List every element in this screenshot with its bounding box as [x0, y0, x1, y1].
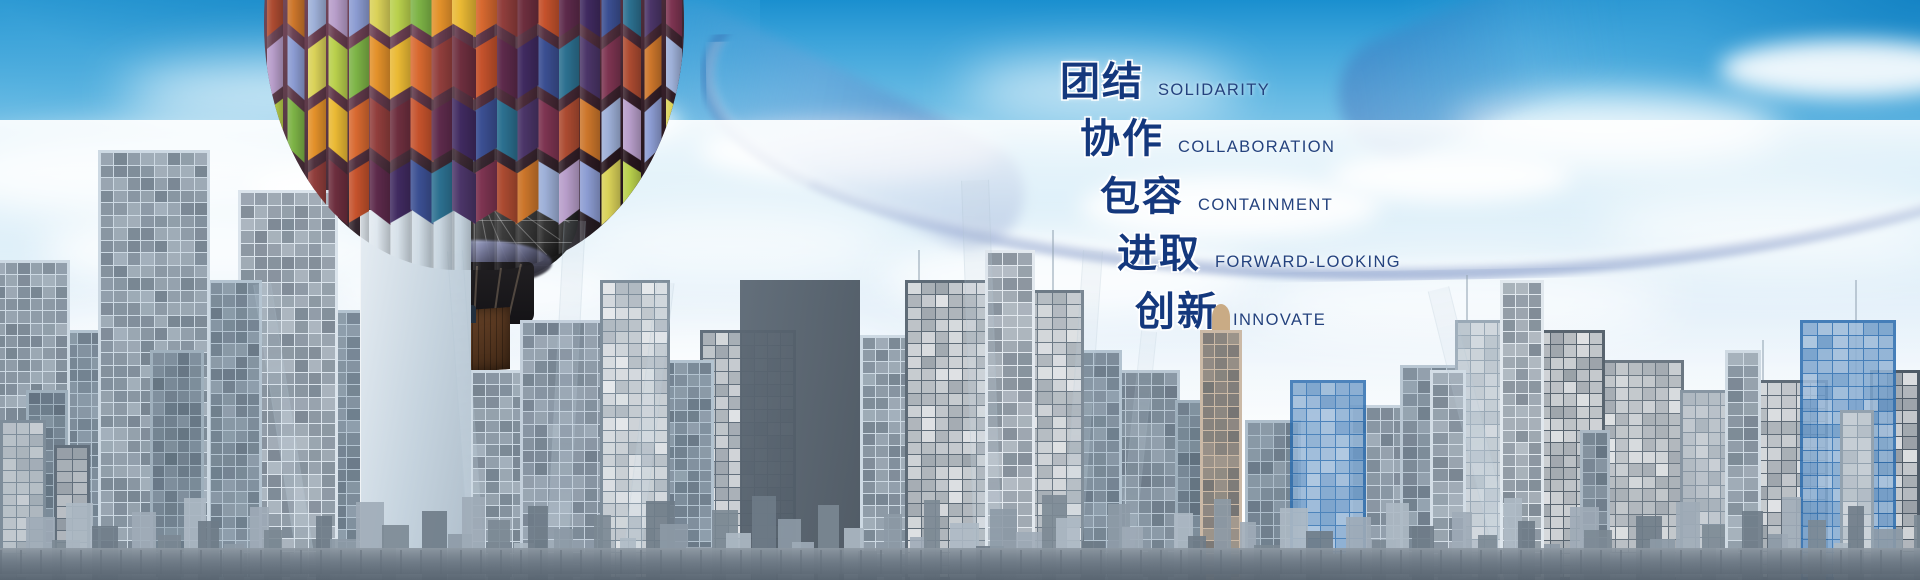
window	[1018, 253, 1032, 265]
window	[876, 446, 888, 457]
window	[1178, 428, 1189, 440]
window	[1744, 366, 1759, 378]
window	[347, 446, 360, 457]
window	[18, 263, 30, 274]
window	[268, 514, 281, 526]
window	[168, 216, 180, 228]
window	[675, 363, 686, 374]
window	[1003, 303, 1017, 315]
window	[1709, 393, 1721, 405]
window	[309, 360, 322, 372]
window	[1261, 436, 1273, 448]
window	[1152, 386, 1164, 398]
window	[114, 291, 126, 303]
window	[863, 470, 875, 481]
window	[1879, 336, 1893, 348]
window	[1643, 401, 1655, 413]
window	[1228, 419, 1239, 430]
window	[1018, 328, 1032, 340]
window	[922, 283, 935, 294]
window	[1485, 336, 1497, 348]
window	[486, 397, 498, 408]
window	[1782, 422, 1796, 434]
window	[1228, 394, 1239, 405]
window	[1018, 341, 1032, 353]
window	[603, 492, 615, 503]
balloon-chevron	[369, 36, 390, 101]
window	[101, 391, 113, 403]
balloon-gore	[601, 0, 620, 270]
window	[1643, 439, 1655, 451]
window	[949, 504, 962, 515]
window	[1529, 344, 1541, 355]
window	[1003, 328, 1017, 340]
window	[248, 344, 259, 355]
window	[1053, 479, 1067, 490]
window	[1485, 361, 1497, 373]
window	[1516, 443, 1528, 454]
window	[688, 363, 699, 374]
window	[922, 344, 935, 355]
window	[1583, 459, 1595, 471]
window	[241, 231, 254, 243]
window	[114, 353, 126, 365]
window	[1203, 431, 1214, 442]
window	[178, 441, 189, 453]
window	[1843, 451, 1857, 463]
window	[908, 431, 921, 442]
window	[268, 501, 281, 513]
window	[1849, 387, 1863, 399]
window	[282, 334, 295, 346]
window	[114, 328, 126, 340]
window	[1768, 474, 1782, 486]
balloon-chevron	[537, 36, 559, 101]
window	[1818, 425, 1832, 437]
window	[1616, 376, 1628, 388]
window	[700, 459, 711, 470]
window	[1529, 283, 1541, 294]
window	[114, 403, 126, 415]
window	[141, 253, 153, 265]
window	[309, 373, 322, 385]
window	[716, 436, 728, 448]
window	[1529, 504, 1541, 515]
window	[114, 341, 126, 353]
window	[128, 366, 140, 378]
window	[1516, 418, 1528, 429]
window	[616, 308, 628, 319]
window	[486, 409, 498, 420]
window	[168, 203, 180, 215]
window	[101, 303, 113, 315]
window	[1818, 374, 1832, 386]
window	[153, 366, 164, 378]
window	[603, 431, 615, 442]
window	[54, 393, 65, 404]
window	[1190, 478, 1201, 490]
window	[700, 471, 711, 482]
window	[153, 466, 164, 478]
window	[1418, 499, 1432, 511]
window	[30, 459, 43, 470]
window	[295, 411, 308, 423]
window	[603, 406, 615, 417]
window	[17, 447, 30, 458]
window	[889, 494, 901, 505]
window	[6, 299, 18, 310]
window	[700, 494, 711, 505]
window	[1590, 345, 1602, 356]
window	[18, 287, 30, 298]
window	[141, 266, 153, 278]
window	[473, 385, 485, 396]
balloon-chevron	[410, 36, 433, 101]
window	[1879, 502, 1893, 514]
window	[1094, 378, 1106, 390]
window	[223, 480, 234, 491]
balloon-gore	[266, 0, 282, 270]
window	[1433, 530, 1448, 541]
window	[236, 418, 247, 429]
window	[616, 443, 628, 454]
window	[248, 431, 259, 442]
window	[1274, 423, 1286, 435]
window	[322, 308, 335, 320]
window	[114, 166, 126, 178]
window	[863, 410, 875, 421]
window	[688, 423, 699, 434]
window	[31, 348, 43, 359]
window	[1248, 488, 1260, 500]
window	[1038, 405, 1052, 416]
window	[1879, 438, 1893, 450]
window	[54, 405, 65, 416]
window	[236, 320, 247, 331]
window	[101, 166, 113, 178]
window	[128, 303, 140, 315]
window	[603, 480, 615, 491]
window	[876, 398, 888, 409]
window	[908, 308, 921, 319]
window	[190, 478, 201, 490]
window	[223, 529, 234, 540]
window	[908, 443, 921, 454]
window	[1696, 406, 1708, 418]
window	[1564, 333, 1576, 344]
window	[1433, 397, 1448, 408]
balloon-chevron	[348, 35, 368, 100]
window	[1656, 464, 1668, 476]
window	[1596, 433, 1608, 445]
window	[1516, 283, 1528, 294]
window	[195, 253, 207, 265]
balloon-gore	[328, 0, 347, 270]
window	[78, 358, 90, 369]
window	[1293, 422, 1306, 434]
window	[523, 374, 534, 386]
window	[31, 372, 43, 383]
window	[1215, 382, 1226, 393]
window	[1709, 446, 1721, 458]
window	[1879, 489, 1893, 501]
window	[700, 530, 711, 541]
window	[486, 445, 498, 456]
balloon-gore	[558, 0, 579, 270]
window	[1261, 449, 1273, 461]
window	[211, 381, 222, 392]
balloon-gore	[452, 0, 476, 270]
window	[616, 492, 628, 503]
window	[1190, 403, 1201, 415]
window	[236, 332, 247, 343]
window	[922, 357, 935, 368]
window	[1003, 341, 1017, 353]
window	[1656, 363, 1668, 375]
window	[486, 506, 498, 517]
window	[128, 428, 140, 440]
window	[0, 396, 5, 407]
window	[1616, 515, 1628, 527]
window	[78, 345, 90, 356]
window	[0, 275, 5, 286]
window	[1782, 448, 1796, 460]
window	[195, 216, 207, 228]
window	[347, 433, 360, 444]
window	[675, 447, 686, 458]
window	[322, 283, 335, 295]
window	[1403, 434, 1417, 446]
window	[1471, 361, 1483, 373]
balloon-chevron	[266, 159, 282, 226]
window	[936, 357, 949, 368]
window	[153, 478, 164, 490]
window	[347, 361, 360, 372]
window	[211, 369, 222, 380]
window	[30, 506, 43, 517]
window	[18, 311, 30, 322]
window	[18, 336, 30, 347]
window	[165, 441, 176, 453]
window	[211, 344, 222, 355]
window	[78, 431, 90, 442]
window	[936, 406, 949, 417]
window	[500, 506, 512, 517]
window	[153, 353, 164, 365]
window	[1228, 480, 1239, 491]
window	[1228, 443, 1239, 454]
window	[18, 299, 30, 310]
window	[1053, 392, 1067, 403]
window	[949, 394, 962, 405]
window	[1596, 459, 1608, 471]
window	[655, 431, 667, 442]
balloon-chevron	[515, 98, 538, 163]
tower-cap	[1212, 304, 1230, 330]
window	[6, 311, 18, 322]
window	[523, 476, 534, 488]
window	[1336, 461, 1349, 473]
window	[1768, 513, 1782, 525]
balloon-chevron	[622, 159, 640, 226]
window	[1293, 409, 1306, 421]
window	[1656, 414, 1668, 426]
window	[1350, 409, 1363, 421]
window	[949, 295, 962, 306]
window	[1503, 369, 1515, 380]
window	[1293, 383, 1306, 395]
window	[57, 448, 72, 459]
window	[1629, 376, 1641, 388]
window	[1094, 403, 1106, 415]
window	[863, 446, 875, 457]
window	[190, 366, 201, 378]
slogan-en: COLLABORATION	[1178, 138, 1335, 157]
window	[1038, 380, 1052, 391]
window	[1203, 382, 1214, 393]
window	[347, 458, 360, 469]
window	[255, 257, 268, 269]
window	[1321, 500, 1334, 512]
window	[190, 378, 201, 390]
window	[3, 435, 16, 446]
window	[1833, 374, 1847, 386]
balloon-chevron	[494, 36, 517, 100]
window	[1018, 366, 1032, 378]
window	[168, 153, 180, 165]
window	[1744, 453, 1759, 465]
window	[1107, 366, 1119, 378]
window	[78, 419, 90, 430]
window	[1529, 418, 1541, 429]
window	[248, 443, 259, 454]
window	[114, 366, 126, 378]
window	[1248, 436, 1260, 448]
window	[1903, 463, 1917, 475]
balloon-chevron	[558, 0, 579, 38]
window	[486, 433, 498, 444]
balloon-chevron	[307, 0, 325, 38]
window	[190, 353, 201, 365]
window	[248, 418, 259, 429]
window	[1818, 412, 1832, 424]
window	[585, 502, 596, 514]
window	[282, 283, 295, 295]
balloon-chevron	[622, 97, 640, 163]
window	[0, 263, 5, 274]
window	[1833, 361, 1847, 373]
window	[309, 296, 322, 308]
window	[168, 166, 180, 178]
window	[248, 406, 259, 417]
balloon-chevron	[266, 0, 282, 38]
window	[1858, 451, 1872, 463]
window	[178, 366, 189, 378]
window	[248, 332, 259, 343]
window	[1516, 381, 1528, 392]
window	[876, 494, 888, 505]
balloon-chevron	[328, 159, 347, 226]
window	[1768, 383, 1782, 395]
window	[1293, 461, 1306, 473]
window	[500, 482, 512, 493]
window	[1367, 473, 1380, 485]
window	[1038, 392, 1052, 403]
window	[1350, 500, 1363, 512]
window	[195, 228, 207, 240]
window	[936, 480, 949, 491]
window	[1165, 373, 1177, 385]
window	[78, 333, 90, 344]
window	[1248, 501, 1260, 513]
window	[922, 381, 935, 392]
window	[585, 374, 596, 386]
window	[1903, 450, 1917, 462]
window	[1744, 478, 1759, 490]
balloon-chevron	[266, 97, 282, 163]
window	[616, 295, 628, 306]
window	[1696, 486, 1708, 498]
window	[603, 467, 615, 478]
window	[1516, 467, 1528, 478]
window	[1744, 491, 1759, 503]
window	[1367, 421, 1380, 433]
window	[322, 334, 335, 346]
window	[1293, 448, 1306, 460]
basket-weave	[502, 307, 503, 369]
window	[1418, 486, 1432, 498]
window	[603, 443, 615, 454]
window	[347, 482, 360, 493]
window	[1728, 478, 1743, 490]
window	[0, 372, 5, 383]
window	[1503, 308, 1515, 319]
window	[1336, 396, 1349, 408]
window	[616, 283, 628, 294]
window	[1818, 387, 1832, 399]
window	[1782, 435, 1796, 447]
window	[1551, 468, 1563, 479]
window	[1818, 489, 1832, 501]
window	[181, 303, 193, 315]
window	[1003, 416, 1017, 428]
window	[936, 283, 949, 294]
window	[486, 385, 498, 396]
window	[295, 296, 308, 308]
window	[128, 191, 140, 203]
window	[165, 478, 176, 490]
window	[1003, 428, 1017, 440]
window	[535, 323, 546, 335]
window	[1274, 436, 1286, 448]
window	[155, 153, 167, 165]
window	[165, 353, 176, 365]
window	[889, 446, 901, 457]
window	[1248, 462, 1260, 474]
window	[1336, 422, 1349, 434]
balloon-gore	[390, 0, 412, 270]
window	[1107, 391, 1119, 403]
window	[1803, 489, 1817, 501]
window	[1858, 438, 1872, 450]
window	[181, 191, 193, 203]
window	[295, 373, 308, 385]
window	[1728, 403, 1743, 415]
window	[1038, 479, 1052, 490]
window	[675, 387, 686, 398]
window	[1381, 460, 1394, 472]
window	[1190, 491, 1201, 503]
